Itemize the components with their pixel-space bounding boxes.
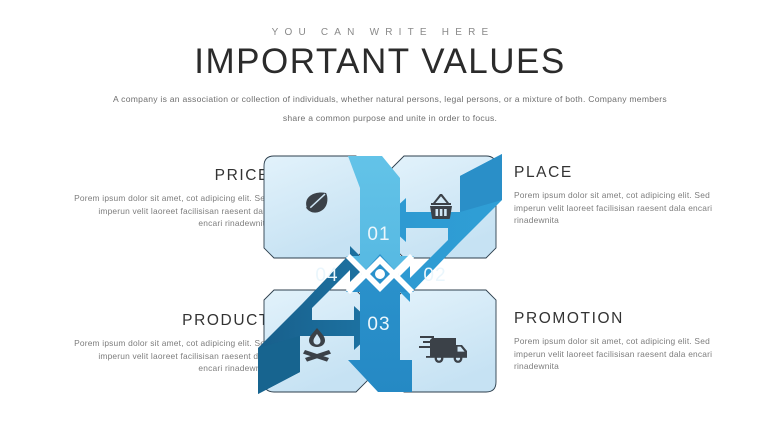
section-body-price: Porem ipsum dolor sit amet, cot adipicin… (74, 192, 270, 230)
section-heading-product: PRODUCT (74, 312, 270, 330)
section-body-promotion: Porem ipsum dolor sit amet, cot adipicin… (514, 335, 714, 373)
step-number-04: 04 (315, 265, 338, 286)
pinwheel-diagram-svg: 01 02 03 04 (250, 148, 510, 400)
section-heading-place: PLACE (514, 164, 714, 182)
section-block-place: PLACE Porem ipsum dolor sit amet, cot ad… (514, 164, 714, 227)
eyebrow-text: YOU CAN WRITE HERE (0, 27, 760, 38)
page-title: IMPORTANT VALUES (0, 42, 760, 82)
section-block-promotion: PROMOTION Porem ipsum dolor sit amet, co… (514, 310, 714, 373)
intro-paragraph: A company is an association or collectio… (110, 90, 670, 128)
slide-canvas: YOU CAN WRITE HERE IMPORTANT VALUES A co… (0, 0, 760, 428)
pinwheel-diagram: 01 02 03 04 (250, 148, 510, 400)
section-heading-price: PRICE (74, 167, 270, 185)
section-block-product: PRODUCT Porem ipsum dolor sit amet, cot … (74, 312, 270, 375)
section-heading-promotion: PROMOTION (514, 310, 714, 328)
section-body-place: Porem ipsum dolor sit amet, cot adipicin… (514, 189, 714, 227)
step-number-03: 03 (367, 314, 390, 335)
section-body-product: Porem ipsum dolor sit amet, cot adipicin… (74, 337, 270, 375)
step-number-01: 01 (367, 224, 390, 245)
step-number-02: 02 (423, 265, 446, 286)
section-block-price: PRICE Porem ipsum dolor sit amet, cot ad… (74, 167, 270, 230)
